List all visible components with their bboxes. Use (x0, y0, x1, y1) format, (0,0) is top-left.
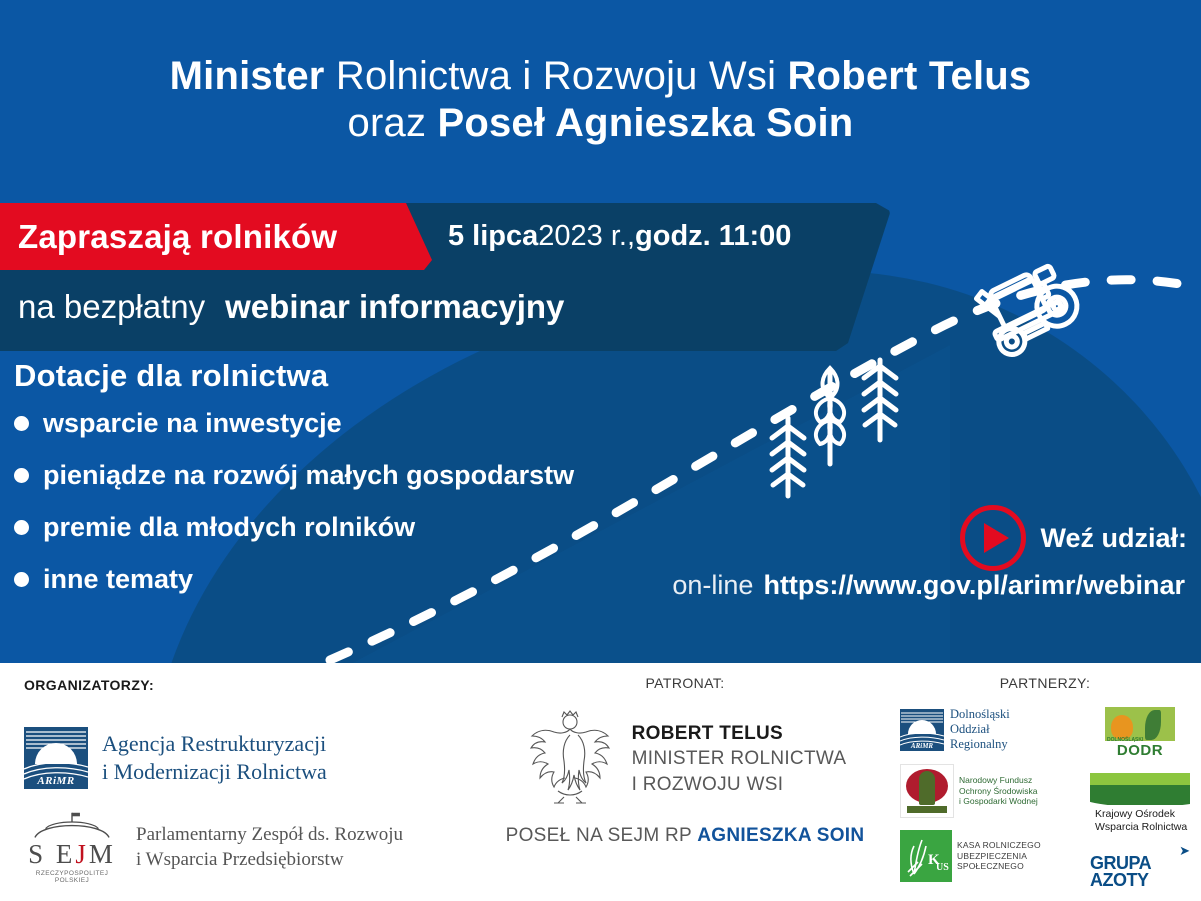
partner-grupa-azoty: ➤ GRUPA AZOTY (1090, 846, 1190, 889)
patronage-title-1: MINISTER ROLNICTWA (632, 746, 847, 771)
partner-caption: KASA ROLNICZEGOUBEZPIECZENIA SPOŁECZNEGO (957, 840, 1080, 872)
bullet-dot-icon (14, 416, 29, 431)
partners-column: PARTNERZY: (900, 663, 1190, 889)
nfosigw-tree-icon (919, 771, 935, 805)
partners-col-right: DOLNOŚLĄSKI DODR Krajowy OśrodekWsparcia… (1090, 707, 1190, 889)
join-cta[interactable]: Weź udział: (960, 505, 1187, 571)
topics-title: Dotacje dla rolnictwa (14, 358, 574, 394)
list-item: pieniądze na rozwój małych gospodarstw (14, 460, 574, 491)
polish-eagle-icon (524, 707, 616, 811)
nfosigw-mark-icon (900, 764, 954, 818)
sejm-wordmark: S EJM (24, 841, 120, 868)
nfosigw-base-icon (907, 806, 947, 813)
kowr-dark-green-icon (1090, 785, 1190, 805)
invite-banner-label: Zapraszają rolników (0, 218, 337, 256)
patronage-name: ROBERT TELUS (632, 721, 847, 746)
arimr-regional-mark-icon: ARiMR (900, 709, 944, 751)
patronage-heading: PATRONAT: (470, 675, 900, 691)
webinar-url[interactable]: https://www.gov.pl/arimr/webinar (763, 570, 1185, 601)
header-bold-minister: Minister (170, 54, 325, 98)
partners-heading: PARTNERZY: (900, 675, 1190, 691)
mp-name: AGNIESZKA SOIN (697, 825, 864, 846)
svg-text:US: US (936, 862, 949, 873)
join-label: Weź udział: (1040, 523, 1187, 554)
online-prefix: on-line (672, 570, 753, 601)
header-bold-name: Robert Telus (787, 54, 1031, 98)
event-date-day: 5 lipca (448, 220, 538, 253)
poster-footer: ORGANIZATORZY: ARiMR (0, 663, 1201, 901)
patronage-person: ROBERT TELUS MINISTER ROLNICTWA I ROZWOJ… (632, 721, 847, 796)
patronage-column: PATRONAT: ROBERT TELUS (470, 663, 900, 847)
sejm-name-line1: Parlamentarny Zespół ds. Rozwoju (136, 823, 403, 848)
sejm-name-line2: i Wsparcia Przedsiębiorstw (136, 848, 403, 873)
partner-caption: Narodowy FunduszOchrony Środowiskai Gosp… (959, 775, 1038, 807)
arimr-mark-label: ARiMR (24, 775, 88, 787)
partner-nfosigw: Narodowy FunduszOchrony Środowiskai Gosp… (900, 764, 1080, 818)
sejm-subtitle: RZECZYPOSPOLITEJ POLSKIEJ (24, 870, 120, 884)
krus-mark-icon: K US (900, 830, 952, 882)
poster: Minister Rolnictwa i Rozwoju Wsi Robert … (0, 0, 1201, 901)
bullet-dot-icon (14, 468, 29, 483)
event-date-year: 2023 r., (538, 220, 635, 253)
patronage-logo: ROBERT TELUS MINISTER ROLNICTWA I ROZWOJ… (470, 707, 900, 811)
krus-grain-icon: K US (900, 830, 952, 882)
webinar-url-line[interactable]: on-line https://www.gov.pl/arimr/webinar (672, 570, 1185, 601)
arimr-logo: ARiMR Agencja Restrukturyzacji i Moderni… (24, 727, 454, 789)
arimr-name: Agencja Restrukturyzacji i Modernizacji … (102, 730, 327, 786)
bullet-dot-icon (14, 572, 29, 587)
sejm-dome-icon (24, 811, 120, 841)
topics-block: Dotacje dla rolnictwa wsparcie na inwest… (14, 358, 574, 616)
dodr-mark-icon: DOLNOŚLĄSKI DODR (1105, 707, 1175, 759)
header-normal-2: oraz (348, 101, 438, 145)
azoty-line2: AZOTY (1090, 872, 1190, 889)
poster-header: Minister Rolnictwa i Rozwoju Wsi Robert … (0, 0, 1201, 200)
partners-grid: ARiMR DolnośląskiOddziałRegionalny Narod… (900, 707, 1190, 889)
webinar-title: webinar informacyjny (225, 288, 564, 326)
sejm-logo: S EJM RZECZYPOSPOLITEJ POLSKIEJ Parlamen… (24, 811, 454, 884)
webinar-free-label: na bezpłatny (18, 288, 205, 326)
partner-caption: Krajowy OśrodekWsparcia Rolnictwa (1095, 808, 1190, 834)
partner-krus: K US KASA ROLNICZEGOUBEZPIECZENIA SPOŁEC… (900, 830, 1080, 882)
organizers-heading: ORGANIZATORZY: (24, 677, 454, 693)
azoty-mark-icon: ➤ GRUPA AZOTY (1090, 846, 1190, 889)
event-time: godz. 11:00 (635, 220, 791, 253)
organizers-column: ORGANIZATORZY: ARiMR (24, 663, 454, 884)
list-item: inne tematy (14, 564, 574, 595)
header-normal-1: Rolnictwa i Rozwoju Wsi (325, 54, 788, 98)
arimr-mark-icon: ARiMR (24, 727, 88, 789)
topic-label: inne tematy (43, 564, 193, 595)
play-icon[interactable] (960, 505, 1026, 571)
topic-label: pieniądze na rozwój małych gospodarstw (43, 460, 574, 491)
dodr-sun-icon (1111, 715, 1133, 739)
invite-banner: Zapraszają rolników (0, 203, 432, 270)
kowr-mark-icon: Krajowy OśrodekWsparcia Rolnictwa (1090, 771, 1190, 834)
mp-prefix: POSEŁ NA SEJM RP (506, 825, 698, 846)
patronage-title-2: I ROZWOJU WSI (632, 772, 847, 797)
header-line-2: oraz Poseł Agnieszka Soin (348, 100, 854, 147)
hero-stage: Minister Rolnictwa i Rozwoju Wsi Robert … (0, 0, 1201, 663)
partner-kowr: Krajowy OśrodekWsparcia Rolnictwa (1090, 771, 1190, 834)
topics-list: wsparcie na inwestycje pieniądze na rozw… (14, 408, 574, 595)
list-item: wsparcie na inwestycje (14, 408, 574, 439)
partner-dodr: DOLNOŚLĄSKI DODR (1090, 707, 1190, 759)
arimr-regional-label: ARiMR (900, 742, 944, 750)
sejm-mark-icon: S EJM RZECZYPOSPOLITEJ POLSKIEJ (24, 811, 120, 884)
topic-label: premie dla młodych rolników (43, 512, 415, 543)
webinar-line: na bezpłatny webinar informacyjny (18, 288, 564, 350)
partner-caption: DODR (1105, 742, 1175, 759)
arimr-name-line1: Agencja Restrukturyzacji (102, 730, 327, 758)
header-line-1: Minister Rolnictwa i Rozwoju Wsi Robert … (170, 53, 1032, 100)
arimr-name-line2: i Modernizacji Rolnictwa (102, 758, 327, 786)
topic-label: wsparcie na inwestycje (43, 408, 342, 439)
mp-line: POSEŁ NA SEJM RP AGNIESZKA SOIN (470, 825, 900, 847)
list-item: premie dla młodych rolników (14, 512, 574, 543)
event-datetime: 5 lipca 2023 r., godz. 11:00 (448, 203, 791, 270)
sejm-name: Parlamentarny Zespół ds. Rozwoju i Wspar… (136, 823, 403, 872)
header-bold-mp: Poseł Agnieszka Soin (437, 101, 853, 145)
kowr-band-icon (1090, 771, 1190, 805)
partner-arimr-dolnoslaski: ARiMR DolnośląskiOddziałRegionalny (900, 707, 1080, 752)
partners-col-left: ARiMR DolnośląskiOddziałRegionalny Narod… (900, 707, 1080, 889)
bullet-dot-icon (14, 520, 29, 535)
partner-caption: DolnośląskiOddziałRegionalny (950, 707, 1010, 752)
